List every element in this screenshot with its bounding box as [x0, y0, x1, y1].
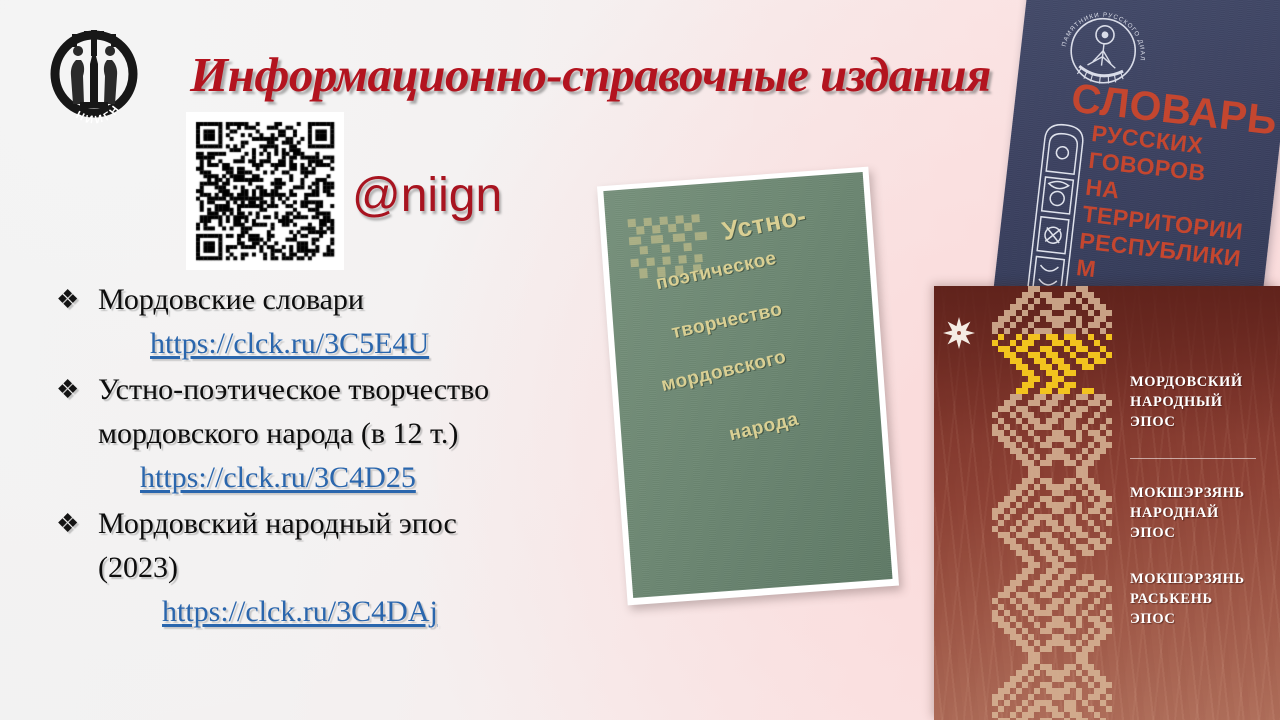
eight-point-star-icon: [942, 316, 976, 350]
bullet-item: ❖ Мордовский народный эпос: [56, 502, 656, 546]
book-red-title-line: МОКШЭРЗЯНЬ: [1130, 483, 1276, 503]
bullet-item: ❖ Устно-поэтическое творчество: [56, 368, 656, 412]
bullet-text: Мордовский народный эпос: [98, 502, 656, 546]
niign-logo-icon: НИИГН: [42, 18, 146, 126]
bullet-list: ❖ Мордовские словари https://clck.ru/3C5…: [56, 278, 656, 636]
book-green-title-line: творчество: [670, 299, 785, 344]
divider: [1130, 458, 1256, 459]
book-green-title: Устно- поэтическое творчество мордовског…: [634, 182, 893, 528]
book-red-title-line: МОКШЭРЗЯНЬ: [1130, 569, 1276, 589]
book-blue-title: СЛОВАРЬ РУССКИХ ГОВОРОВ НА ТЕРРИТОРИИ РЕ…: [1053, 78, 1280, 303]
book-green-title-line: народа: [727, 409, 801, 447]
book-green-title-line: поэтическое: [654, 248, 779, 295]
book-red-title-group-erzya: МОКШЭРЗЯНЬ РАСЬКЕНЬ ЭПОС: [1130, 569, 1276, 629]
bullet-block-3: ❖ Мордовский народный эпос (2023) https:…: [56, 502, 656, 634]
bullet-text: Устно-поэтическое творчество: [98, 368, 656, 412]
qr-code-image: [186, 112, 344, 270]
bullet-text-continued: мордовского народа (в 12 т.): [98, 412, 656, 456]
bullet-link[interactable]: https://clck.ru/3C4DAj: [162, 590, 438, 634]
bullet-text-continued: (2023): [98, 546, 656, 590]
bullet-link-row: https://clck.ru/3C5E4U: [98, 322, 656, 366]
book-red-title-line: ЭПОС: [1130, 412, 1276, 432]
book-red-title-line: МОРДОВСКИЙ: [1130, 372, 1276, 392]
book-green-title-line: Устно-: [720, 200, 809, 247]
mordvin-ornament-band-icon: [992, 286, 1112, 720]
book-cover-ustno-poeticheskoe: Устно- поэтическое творчество мордовског…: [597, 167, 899, 606]
book-green-face: Устно- поэтическое творчество мордовског…: [603, 172, 892, 598]
bullet-link[interactable]: https://clck.ru/3C5E4U: [150, 322, 429, 366]
book-red-title-line: НАРОДНЫЙ: [1130, 392, 1276, 412]
bullet-diamond-icon: ❖: [56, 368, 98, 412]
book-red-title-group-ru: МОРДОВСКИЙ НАРОДНЫЙ ЭПОС: [1130, 372, 1276, 432]
bullet-block-1: ❖ Мордовские словари https://clck.ru/3C5…: [56, 278, 656, 366]
book-red-title-line: ЭПОС: [1130, 523, 1276, 543]
bullet-link-row: https://clck.ru/3C4DAj: [98, 590, 656, 634]
book-red-title-line: НАРОДНАЙ: [1130, 503, 1276, 523]
bullet-block-2: ❖ Устно-поэтическое творчество мордовско…: [56, 368, 656, 500]
bullet-diamond-icon: ❖: [56, 278, 98, 322]
bullet-text: Мордовские словари: [98, 278, 656, 322]
slide-canvas: НИИГН Информационно-справочные издания @…: [0, 0, 1280, 720]
social-handle: @niign: [352, 168, 502, 224]
bullet-link[interactable]: https://clck.ru/3C4D25: [140, 456, 416, 500]
book-cover-mordovskiy-narodnyy-epos: МОРДОВСКИЙ НАРОДНЫЙ ЭПОС МОКШЭРЗЯНЬ НАРО…: [934, 286, 1280, 720]
book-red-title-line: ЭПОС: [1130, 609, 1276, 629]
niign-logo: НИИГН: [42, 18, 146, 126]
book-red-title-group-moksha: МОКШЭРЗЯНЬ НАРОДНАЙ ЭПОС: [1130, 483, 1276, 543]
book-green-title-line: мордовского: [659, 346, 788, 397]
book-red-title-line: РАСЬКЕНЬ: [1130, 589, 1276, 609]
bullet-item: ❖ Мордовские словари: [56, 278, 656, 322]
page-title: Информационно-справочные издания: [190, 42, 980, 114]
bullet-diamond-icon: ❖: [56, 502, 98, 546]
book-red-title: МОРДОВСКИЙ НАРОДНЫЙ ЭПОС МОКШЭРЗЯНЬ НАРО…: [1130, 372, 1276, 655]
qr-code[interactable]: [186, 112, 344, 270]
bullet-link-row: https://clck.ru/3C4D25: [98, 456, 656, 500]
